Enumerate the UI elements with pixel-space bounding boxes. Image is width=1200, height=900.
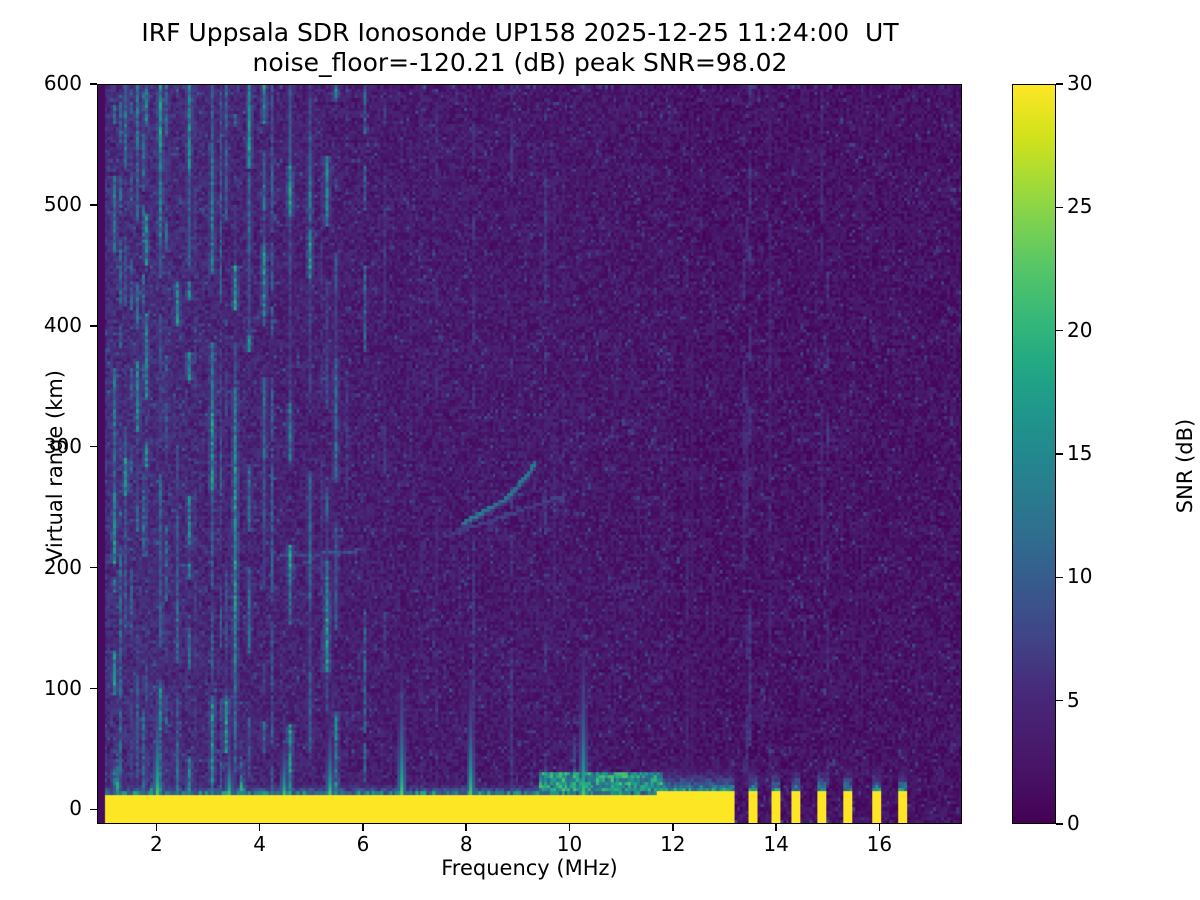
y-tick-label: 0 xyxy=(10,796,82,820)
x-tick-label: 12 xyxy=(643,832,703,856)
x-tick-mark xyxy=(879,824,881,831)
x-tick-label: 2 xyxy=(126,832,186,856)
ionogram-figure: IRF Uppsala SDR Ionosonde UP158 2025-12-… xyxy=(0,0,1200,900)
ionogram-heatmap xyxy=(98,85,961,823)
figure-title: IRF Uppsala SDR Ionosonde UP158 2025-12-… xyxy=(0,18,1040,77)
colorbar xyxy=(1012,84,1056,824)
y-tick-mark xyxy=(90,83,97,85)
x-tick-label: 14 xyxy=(746,832,806,856)
colorbar-label: SNR (dB) xyxy=(1173,266,1197,666)
colorbar-tick-mark xyxy=(1056,83,1063,85)
title-line-1: IRF Uppsala SDR Ionosonde UP158 2025-12-… xyxy=(0,18,1040,48)
y-tick-mark xyxy=(90,688,97,690)
colorbar-tick-mark xyxy=(1056,700,1063,702)
x-tick-label: 8 xyxy=(436,832,496,856)
colorbar-tick-mark xyxy=(1056,453,1063,455)
colorbar-tick-label: 30 xyxy=(1067,71,1127,95)
colorbar-tick-label: 0 xyxy=(1067,811,1127,835)
colorbar-tick-mark xyxy=(1056,330,1063,332)
y-axis-label: Virtual range (km) xyxy=(43,266,67,666)
x-tick-mark xyxy=(569,824,571,831)
colorbar-tick-label: 20 xyxy=(1067,318,1127,342)
x-tick-mark xyxy=(672,824,674,831)
colorbar-tick-label: 25 xyxy=(1067,194,1127,218)
title-line-2: noise_floor=-120.21 (dB) peak SNR=98.02 xyxy=(0,48,1040,78)
y-tick-label: 100 xyxy=(10,676,82,700)
colorbar-tick-mark xyxy=(1056,207,1063,209)
y-tick-mark xyxy=(90,204,97,206)
x-tick-mark xyxy=(775,824,777,831)
x-tick-mark xyxy=(156,824,158,831)
y-tick-label: 600 xyxy=(10,71,82,95)
x-tick-label: 4 xyxy=(230,832,290,856)
x-axis-label: Frequency (MHz) xyxy=(97,856,962,880)
x-tick-mark xyxy=(465,824,467,831)
y-tick-label: 500 xyxy=(10,192,82,216)
x-tick-label: 6 xyxy=(333,832,393,856)
x-tick-mark xyxy=(362,824,364,831)
y-tick-mark xyxy=(90,567,97,569)
y-tick-mark xyxy=(90,809,97,811)
y-tick-mark xyxy=(90,325,97,327)
x-tick-mark xyxy=(259,824,261,831)
x-tick-label: 10 xyxy=(540,832,600,856)
x-tick-label: 16 xyxy=(849,832,909,856)
colorbar-tick-mark xyxy=(1056,577,1063,579)
colorbar-tick-mark xyxy=(1056,823,1063,825)
colorbar-tick-label: 10 xyxy=(1067,564,1127,588)
colorbar-tick-label: 15 xyxy=(1067,441,1127,465)
y-tick-mark xyxy=(90,446,97,448)
plot-area xyxy=(97,84,962,824)
colorbar-tick-label: 5 xyxy=(1067,688,1127,712)
